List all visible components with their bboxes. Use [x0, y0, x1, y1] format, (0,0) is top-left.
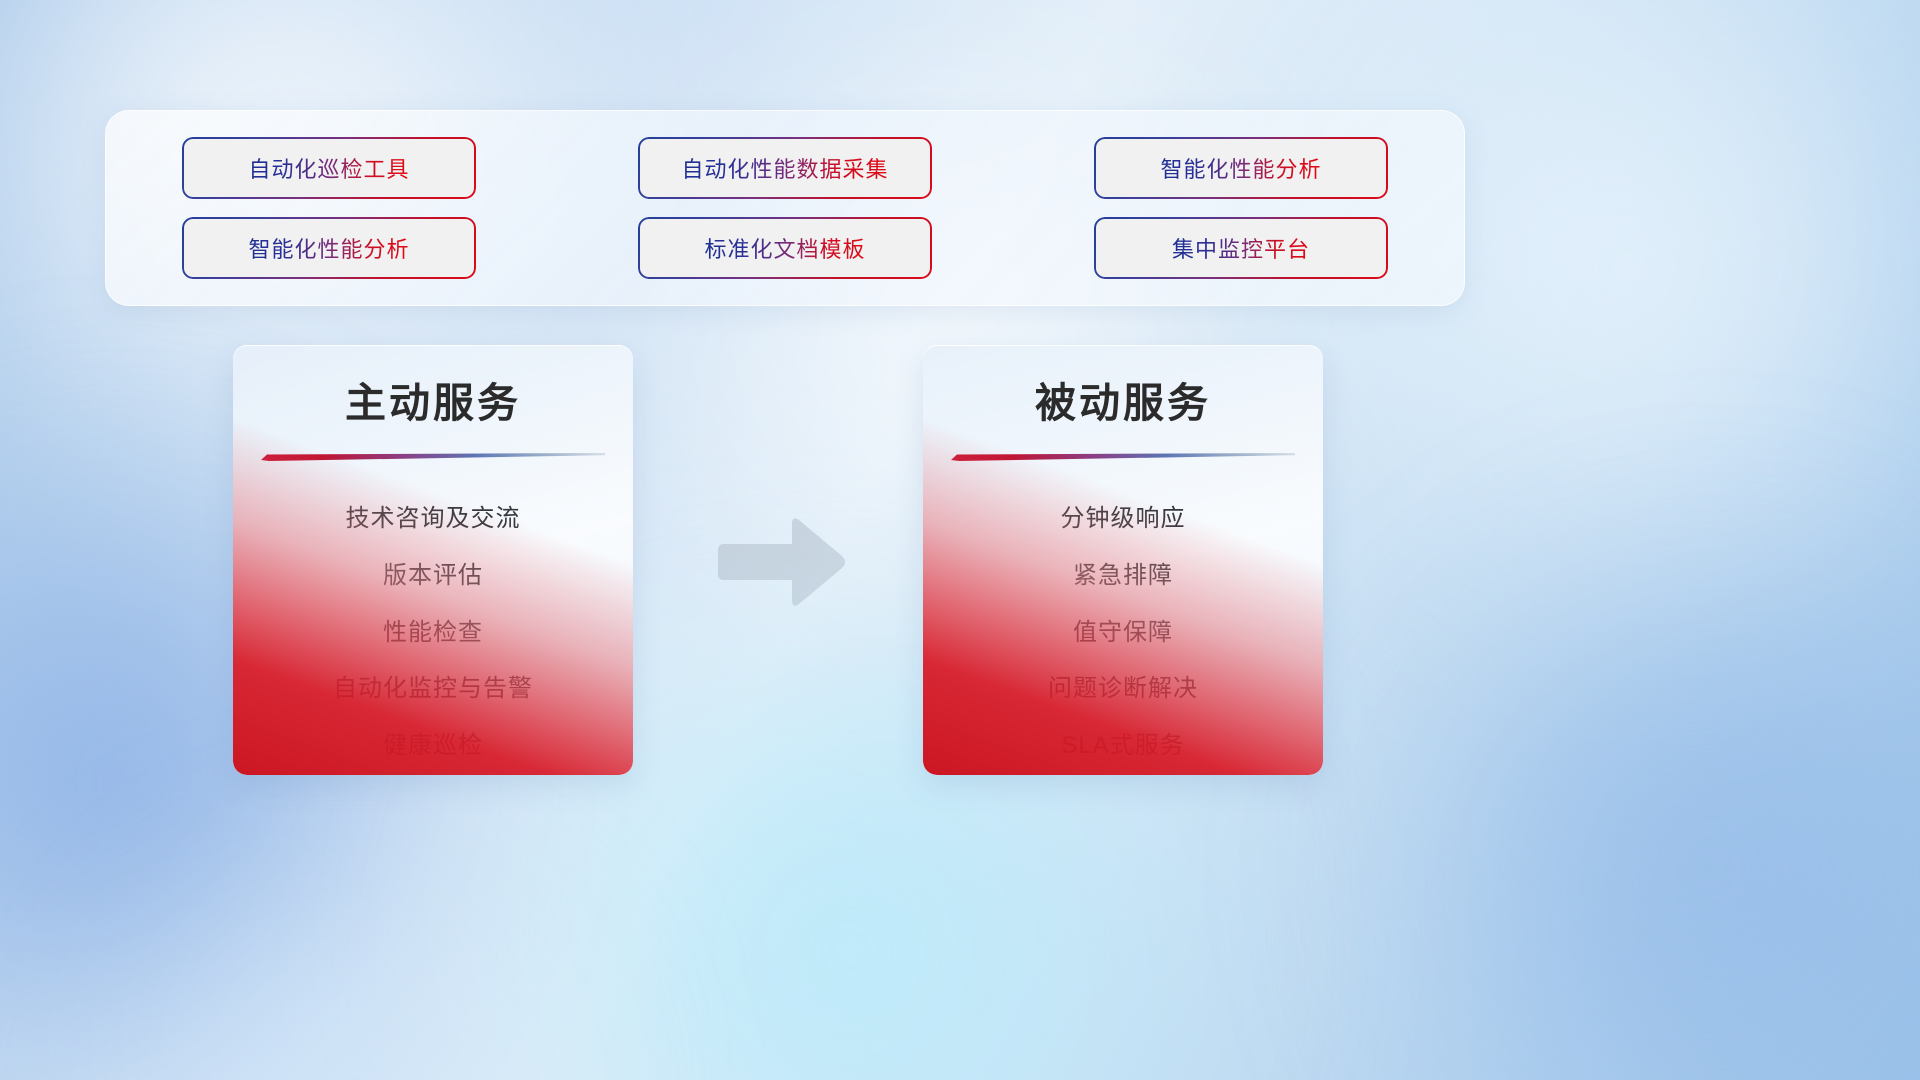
card-title: 被动服务 — [923, 369, 1323, 429]
tool-tag-label: 自动化性能数据采集 — [681, 152, 888, 184]
card-divider — [951, 453, 1295, 461]
list-item[interactable]: 版本评估 — [233, 548, 633, 605]
diagram-stage: 自动化巡检工具 自动化性能数据采集 智能化性能分析 智能化性能分析 标准化文档模… — [0, 0, 1920, 1080]
reactive-service-card[interactable]: 被动服务 分钟级响应 紧急排障 值守保障 — [923, 345, 1323, 775]
list-item[interactable]: 紧急排障 — [923, 548, 1323, 605]
tool-tag-central-monitoring[interactable]: 集中监控平台 — [1096, 219, 1386, 277]
tool-tag-intelligent-analysis[interactable]: 智能化性能分析 — [1096, 139, 1386, 197]
tool-tag-label: 自动化巡检工具 — [248, 152, 409, 184]
list-item[interactable]: 问题诊断解决 — [923, 661, 1323, 718]
list-item[interactable]: 自动化监控与告警 — [233, 661, 633, 718]
tool-tag-label: 集中监控平台 — [1172, 232, 1310, 264]
proactive-service-card[interactable]: 主动服务 技术咨询及交流 版本评估 性能检查 — [233, 345, 633, 775]
arrow-right-shape — [718, 512, 848, 612]
tools-panel: 自动化巡检工具 自动化性能数据采集 智能化性能分析 智能化性能分析 标准化文档模… — [105, 110, 1465, 306]
card-item-list: 技术咨询及交流 版本评估 性能检查 自动化监控与告警 健康巡检 — [233, 491, 633, 775]
tool-tag-automation-inspection[interactable]: 自动化巡检工具 — [184, 139, 474, 197]
divider-shape — [261, 453, 605, 461]
list-item[interactable]: 技术咨询及交流 — [233, 491, 633, 548]
tool-tag-label: 标准化文档模板 — [704, 232, 865, 264]
tools-row-2: 智能化性能分析 标准化文档模板 集中监控平台 — [184, 219, 1386, 277]
card-title: 主动服务 — [233, 369, 633, 429]
list-item[interactable]: 分钟级响应 — [923, 491, 1323, 548]
tool-tag-label: 智能化性能分析 — [1160, 152, 1321, 184]
list-item[interactable]: 性能检查 — [233, 605, 633, 662]
tool-tag-standard-doc-template[interactable]: 标准化文档模板 — [640, 219, 930, 277]
arrow-right-icon — [718, 512, 848, 612]
card-item-list: 分钟级响应 紧急排障 值守保障 问题诊断解决 SLA式服务 — [923, 491, 1323, 775]
tool-tag-intelligent-analysis-2[interactable]: 智能化性能分析 — [184, 219, 474, 277]
list-item[interactable]: 健康巡检 — [233, 718, 633, 775]
list-item[interactable]: SLA式服务 — [923, 718, 1323, 775]
tools-row-1: 自动化巡检工具 自动化性能数据采集 智能化性能分析 — [184, 139, 1386, 197]
tool-tag-label: 智能化性能分析 — [248, 232, 409, 264]
tool-tag-performance-collection[interactable]: 自动化性能数据采集 — [640, 139, 930, 197]
divider-shape — [951, 453, 1295, 461]
card-divider — [261, 453, 605, 461]
list-item[interactable]: 值守保障 — [923, 605, 1323, 662]
